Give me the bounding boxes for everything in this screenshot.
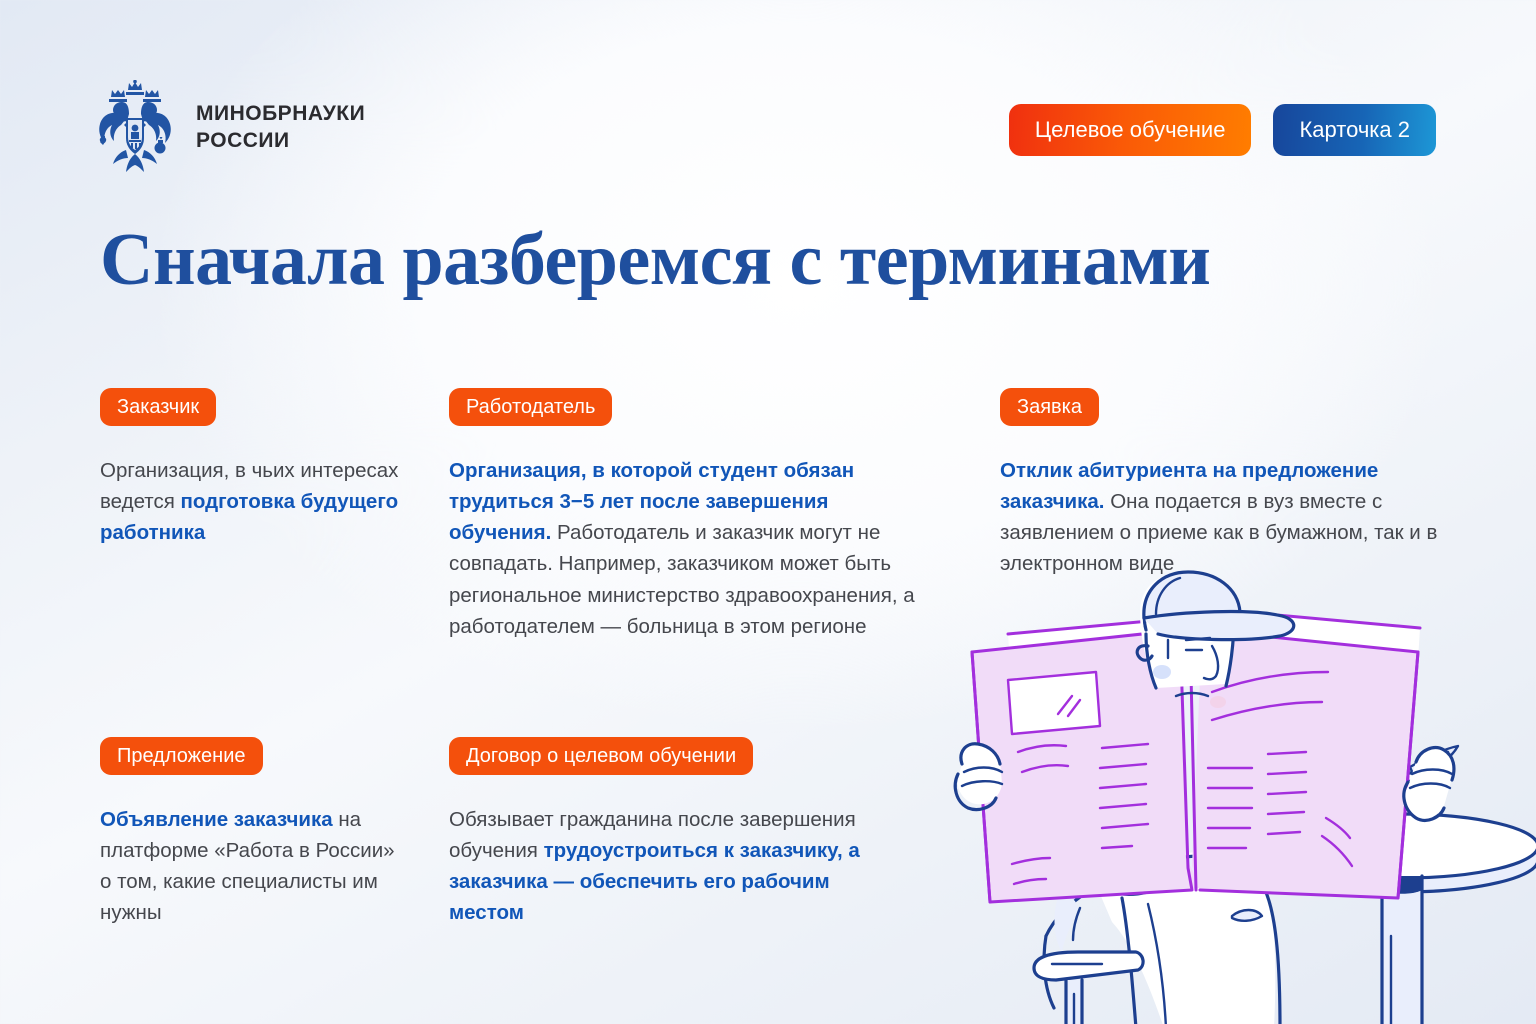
term-block-contract: Договор о целевом обучении Обязывает гра… bbox=[449, 737, 909, 929]
russian-coat-of-arms-eagle-icon bbox=[96, 80, 174, 176]
term-text-contract: Обязывает гражданина после завершения об… bbox=[449, 804, 909, 929]
term-block-offer: Предложение Объявление заказчика на плат… bbox=[100, 737, 400, 929]
header-badges: Целевое обучение Карточка 2 bbox=[1009, 104, 1436, 156]
term-block-request: Заявка Отклик абитуриента на предложение… bbox=[1000, 388, 1460, 580]
badge-topic[interactable]: Целевое обучение bbox=[1009, 104, 1252, 156]
term-pill-offer[interactable]: Предложение bbox=[100, 737, 263, 775]
term-block-employer: Работодатель Организация, в которой студ… bbox=[449, 388, 919, 642]
term-text-request: Отклик абитуриента на предложение заказч… bbox=[1000, 455, 1460, 580]
brand-lockup: МИНОБРНАУКИ РОССИИ bbox=[96, 80, 365, 176]
brand-name: МИНОБРНАУКИ РОССИИ bbox=[196, 101, 365, 155]
page-title: Сначала разберемся с терминами bbox=[100, 222, 1440, 300]
term-text-customer: Организация, в чьих интересах ведется по… bbox=[100, 455, 400, 548]
term-pill-request[interactable]: Заявка bbox=[1000, 388, 1099, 426]
infographic-card: МИНОБРНАУКИ РОССИИ Целевое обучение Карт… bbox=[0, 0, 1536, 1024]
badge-card-number[interactable]: Карточка 2 bbox=[1273, 104, 1436, 156]
term-pill-employer[interactable]: Работодатель bbox=[449, 388, 612, 426]
person-reading-newspaper-illustration: .ln { fill:none; stroke:#1d3f8f; stroke-… bbox=[950, 568, 1536, 1024]
term-text-employer: Организация, в которой студент обязан тр… bbox=[449, 455, 919, 642]
term-pill-customer[interactable]: Заказчик bbox=[100, 388, 216, 426]
term-text-offer: Объявление заказчика на платформе «Работ… bbox=[100, 804, 400, 929]
term-block-customer: Заказчик Организация, в чьих интересах в… bbox=[100, 388, 400, 548]
term-pill-contract[interactable]: Договор о целевом обучении bbox=[449, 737, 753, 775]
